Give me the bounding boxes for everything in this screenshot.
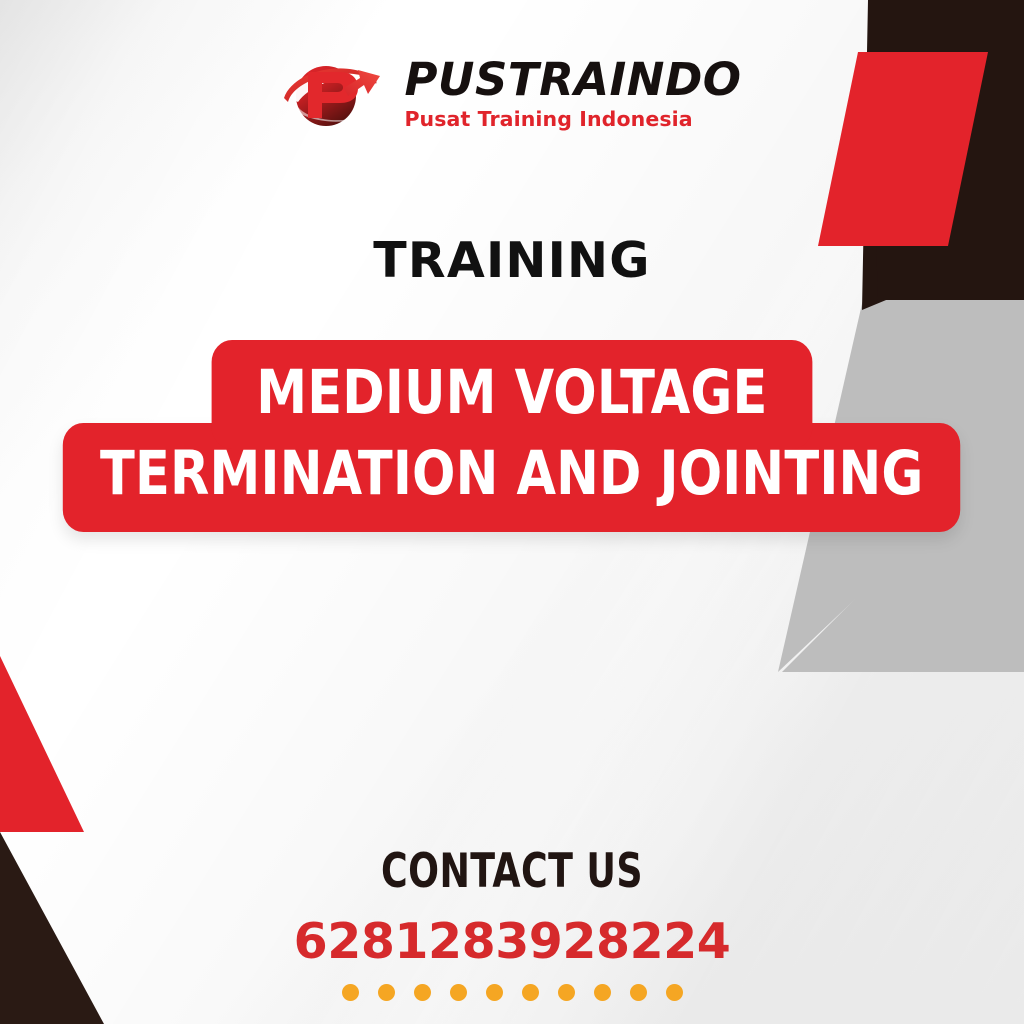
contact-phone-number[interactable]: 6281283928224	[0, 917, 1024, 966]
brand-header: PUSTRAINDO Pusat Training Indonesia	[0, 52, 1024, 134]
contact-us-label: CONTACT US	[72, 848, 953, 895]
pustraindo-globe-arrow-logo	[282, 52, 386, 134]
brand-text-group: PUSTRAINDO Pusat Training Indonesia	[404, 57, 741, 130]
decorative-dot	[594, 984, 611, 1001]
decorative-dot	[630, 984, 647, 1001]
decorative-dot	[486, 984, 503, 1001]
title-line-1: MEDIUM VOLTAGE	[212, 340, 813, 449]
brand-tagline: Pusat Training Indonesia	[404, 109, 692, 130]
kicker-training: TRAINING	[0, 236, 1024, 285]
decorative-dot	[522, 984, 539, 1001]
poster-canvas: PUSTRAINDO Pusat Training Indonesia TRAI…	[0, 0, 1024, 1024]
title-banner: MEDIUM VOLTAGE TERMINATION AND JOINTING	[0, 340, 1024, 532]
decorative-dot-row	[0, 984, 1024, 1001]
contact-block: CONTACT US 6281283928224	[0, 848, 1024, 1001]
decorative-dot	[414, 984, 431, 1001]
decorative-dot	[558, 984, 575, 1001]
decorative-dot	[342, 984, 359, 1001]
brand-name: PUSTRAINDO	[404, 57, 741, 102]
decorative-dot	[378, 984, 395, 1001]
decorative-dot	[666, 984, 683, 1001]
decorative-dot	[450, 984, 467, 1001]
